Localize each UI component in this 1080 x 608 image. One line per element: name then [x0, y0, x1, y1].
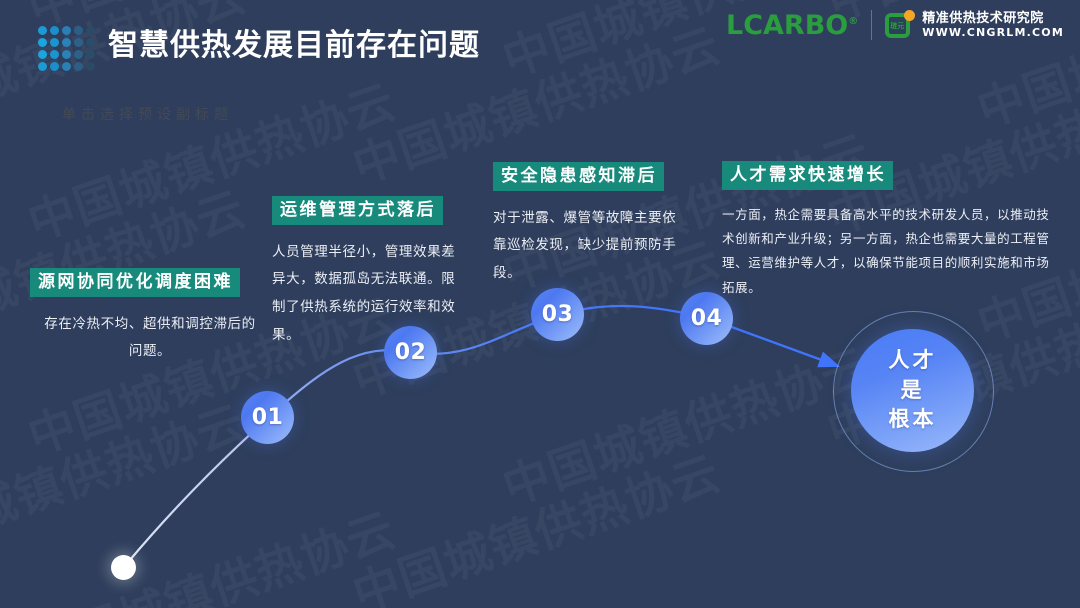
logo-divider	[871, 10, 872, 40]
conclusion-line-1: 人才	[889, 346, 937, 376]
subtitle-placeholder[interactable]: 单击选择预设副标题	[62, 104, 233, 124]
problem-body-02: 人员管理半径小，管理效果差异大，数据孤岛无法联通。限制了供热系统的运行效率和效果…	[272, 238, 468, 349]
problem-body-03: 对于泄露、爆管等故障主要依靠巡检发现，缺少提前预防手段。	[493, 204, 689, 287]
problem-body-04: 一方面，热企需要具备高水平的技术研发人员，以推动技术创新和产业升级；另一方面，热…	[722, 203, 1052, 301]
conclusion-line-3: 根本	[889, 405, 937, 435]
problem-block-01: 源网协同优化调度困难 存在冷热不均、超供和调控滞后的问题。	[30, 268, 256, 365]
problem-heading-03: 安全隐患感知滞后	[493, 162, 664, 191]
institute-badge-text: 琏元	[890, 21, 904, 31]
institute-logo: 琏元 精准供热技术研究院 WWW.CNGRLM.COM	[885, 10, 1064, 40]
step-number: 01	[252, 405, 284, 430]
journey-start-dot	[111, 555, 136, 580]
problem-heading-01: 源网协同优化调度困难	[30, 268, 240, 297]
step-number: 04	[691, 306, 723, 331]
step-number: 03	[542, 302, 574, 327]
institute-text: 精准供热技术研究院 WWW.CNGRLM.COM	[922, 10, 1064, 40]
lcarbo-wordmark: LCARBO	[726, 10, 848, 41]
dot-grid-icon	[38, 26, 95, 71]
step-node-03[interactable]: 03	[531, 288, 584, 341]
step-node-02[interactable]: 02	[384, 326, 437, 379]
problem-block-04: 人才需求快速增长 一方面，热企需要具备高水平的技术研发人员，以推动技术创新和产业…	[722, 161, 1052, 300]
problem-heading-04: 人才需求快速增长	[722, 161, 893, 190]
slide-canvas: 中国城镇供热协云中国城镇供热协云中国城镇供热协云 中国城镇供热协云中国城镇供热协…	[0, 0, 1080, 608]
conclusion-line-2: 是	[901, 376, 925, 406]
institute-name: 精准供热技术研究院	[922, 10, 1064, 26]
registered-mark-icon: ®	[848, 16, 858, 27]
step-node-04[interactable]: 04	[680, 292, 733, 345]
orange-dot-icon	[904, 10, 915, 21]
step-number: 02	[395, 340, 427, 365]
problem-body-01: 存在冷热不均、超供和调控滞后的问题。	[44, 310, 256, 365]
problem-block-03: 安全隐患感知滞后 对于泄露、爆管等故障主要依靠巡检发现，缺少提前预防手段。	[493, 162, 689, 287]
lcarbo-logo: LCARBO®	[726, 12, 858, 39]
slide-header: 智慧供热发展目前存在问题 单击选择预设副标题 LCARBO® 琏元 精准供热技术…	[0, 0, 1080, 78]
conclusion-circle[interactable]: 人才 是 根本	[851, 329, 974, 452]
problem-block-02: 运维管理方式落后 人员管理半径小，管理效果差异大，数据孤岛无法联通。限制了供热系…	[272, 196, 468, 348]
institute-url: WWW.CNGRLM.COM	[922, 26, 1064, 40]
problem-heading-02: 运维管理方式落后	[272, 196, 443, 225]
logo-group: LCARBO® 琏元 精准供热技术研究院 WWW.CNGRLM.COM	[726, 10, 1064, 40]
page-title: 智慧供热发展目前存在问题	[108, 20, 480, 64]
institute-mark-icon: 琏元	[885, 10, 915, 40]
step-node-01[interactable]: 01	[241, 391, 294, 444]
